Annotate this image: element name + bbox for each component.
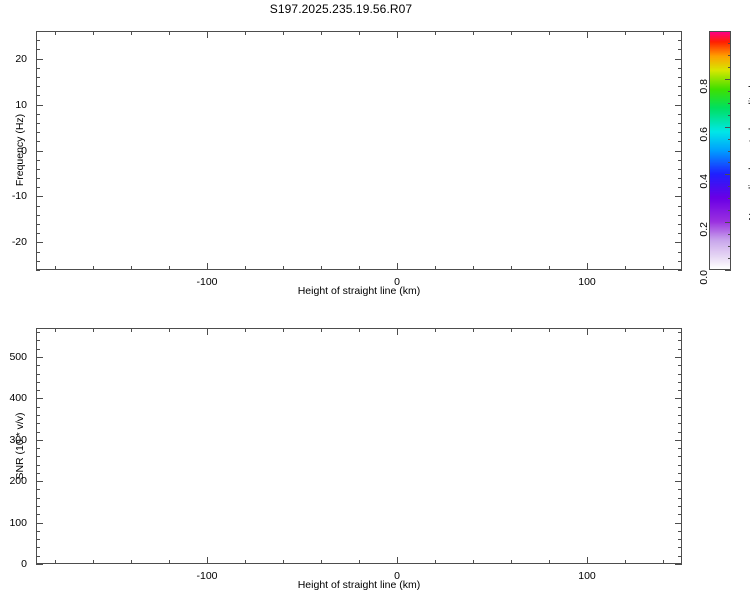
axis-tick <box>36 432 40 433</box>
axis-tick-label: 100 <box>578 570 596 582</box>
axis-tick <box>359 266 360 270</box>
axis-tick <box>678 498 682 499</box>
axis-tick <box>678 270 682 271</box>
axis-tick <box>283 266 284 270</box>
colorbar-tick <box>728 55 731 56</box>
axis-tick <box>678 187 682 188</box>
axis-tick <box>663 31 664 35</box>
axis-tick <box>511 560 512 564</box>
axis-tick <box>359 328 360 332</box>
axis-tick <box>625 31 626 35</box>
axis-tick <box>625 560 626 564</box>
axis-tick <box>169 266 170 270</box>
axis-tick <box>663 266 664 270</box>
axis-tick-label: 500 <box>9 351 27 363</box>
axis-tick <box>473 31 474 35</box>
axis-tick <box>36 398 43 399</box>
colorbar-tick <box>725 270 731 271</box>
axis-tick <box>36 523 43 524</box>
axis-tick <box>36 95 40 96</box>
figure-root: S197.2025.235.19.56.R07 -1000100-20-1001… <box>0 0 750 600</box>
axis-tick <box>678 132 682 133</box>
axis-tick-label: 100 <box>9 517 27 529</box>
axis-tick <box>36 374 40 375</box>
axis-tick <box>678 448 682 449</box>
axis-tick <box>36 498 40 499</box>
axis-tick <box>36 215 40 216</box>
colorbar-tick <box>728 67 731 68</box>
axis-tick <box>36 489 40 490</box>
axis-tick <box>36 531 40 532</box>
axis-tick <box>678 141 682 142</box>
snr-y-axis-label: SNR (10 * v/v) <box>14 412 26 479</box>
axis-tick <box>93 31 94 35</box>
axis-tick <box>36 86 40 87</box>
axis-tick <box>169 328 170 332</box>
axis-tick <box>36 151 43 152</box>
axis-tick <box>678 365 682 366</box>
colorbar-tick <box>728 103 731 104</box>
colorbar-tick <box>725 127 731 128</box>
axis-tick <box>678 531 682 532</box>
axis-tick <box>678 539 682 540</box>
axis-tick <box>36 349 40 350</box>
axis-tick <box>207 263 208 270</box>
axis-tick <box>675 59 682 60</box>
axis-tick-label: -20 <box>12 236 27 248</box>
axis-tick <box>169 31 170 35</box>
axis-tick-label: 10 <box>15 99 27 111</box>
axis-tick <box>678 390 682 391</box>
colorbar-tick <box>728 43 731 44</box>
axis-tick <box>678 489 682 490</box>
axis-tick <box>36 473 40 474</box>
axis-tick <box>397 328 398 335</box>
axis-tick <box>36 105 43 106</box>
axis-tick <box>93 266 94 270</box>
colorbar-tick-label: 0.0 <box>698 270 710 285</box>
axis-tick <box>321 31 322 35</box>
axis-tick <box>36 59 43 60</box>
axis-tick <box>207 557 208 564</box>
axis-tick <box>36 160 40 161</box>
spectrogram-x-axis-label: Height of straight line (km) <box>298 285 421 297</box>
axis-tick <box>359 31 360 35</box>
axis-tick <box>678 465 682 466</box>
axis-tick <box>663 328 664 332</box>
axis-tick <box>36 206 40 207</box>
axis-tick <box>93 560 94 564</box>
axis-tick-label: 400 <box>9 392 27 404</box>
colorbar-tick <box>728 198 731 199</box>
axis-tick <box>435 31 436 35</box>
axis-tick <box>55 31 56 35</box>
axis-tick <box>36 382 40 383</box>
axis-tick <box>321 328 322 332</box>
axis-tick <box>678 68 682 69</box>
axis-tick <box>473 328 474 332</box>
colorbar-tick <box>728 234 731 235</box>
axis-tick <box>678 40 682 41</box>
axis-tick <box>678 340 682 341</box>
colorbar-tick <box>728 186 731 187</box>
axis-tick <box>36 178 40 179</box>
axis-tick <box>587 328 588 335</box>
axis-tick <box>36 68 40 69</box>
axis-tick <box>36 390 40 391</box>
axis-tick <box>36 224 40 225</box>
axis-tick <box>36 481 43 482</box>
axis-tick <box>36 123 40 124</box>
axis-tick <box>587 263 588 270</box>
axis-tick <box>36 456 40 457</box>
axis-tick <box>36 564 43 565</box>
axis-tick-label: -100 <box>196 276 217 288</box>
axis-tick <box>549 266 550 270</box>
colorbar-tick-label: 0.2 <box>698 222 710 237</box>
axis-tick <box>435 266 436 270</box>
colorbar-tick <box>725 174 731 175</box>
axis-tick <box>245 328 246 332</box>
axis-tick <box>36 506 40 507</box>
axis-tick <box>678 556 682 557</box>
axis-tick <box>678 432 682 433</box>
axis-tick <box>55 266 56 270</box>
axis-tick <box>36 252 40 253</box>
axis-tick <box>675 242 682 243</box>
colorbar-tick <box>728 91 731 92</box>
axis-tick <box>36 539 40 540</box>
snr-frame <box>36 328 682 564</box>
axis-tick-label: 100 <box>578 276 596 288</box>
axis-tick <box>678 506 682 507</box>
axis-tick <box>207 328 208 335</box>
colorbar-tick <box>728 139 731 140</box>
colorbar-tick <box>728 31 731 32</box>
axis-tick <box>678 77 682 78</box>
axis-tick <box>587 557 588 564</box>
colorbar-tick-label: 0.6 <box>698 127 710 142</box>
axis-tick <box>678 95 682 96</box>
colorbar-tick <box>728 115 731 116</box>
axis-tick <box>678 415 682 416</box>
axis-tick <box>678 206 682 207</box>
axis-tick <box>397 557 398 564</box>
axis-tick <box>678 407 682 408</box>
axis-tick <box>36 514 40 515</box>
axis-tick <box>93 328 94 332</box>
colorbar-tick <box>728 210 731 211</box>
axis-tick <box>678 473 682 474</box>
axis-tick <box>473 560 474 564</box>
axis-tick <box>245 266 246 270</box>
axis-tick <box>678 123 682 124</box>
axis-tick <box>675 564 682 565</box>
axis-tick <box>36 132 40 133</box>
axis-tick <box>36 49 40 50</box>
axis-tick <box>678 160 682 161</box>
axis-tick <box>678 332 682 333</box>
axis-tick <box>36 187 40 188</box>
axis-tick <box>675 196 682 197</box>
colorbar-tick <box>725 222 731 223</box>
axis-tick <box>678 349 682 350</box>
axis-tick <box>36 31 40 32</box>
axis-tick <box>678 514 682 515</box>
axis-tick <box>678 169 682 170</box>
axis-tick <box>36 448 40 449</box>
axis-tick <box>131 266 132 270</box>
axis-tick <box>36 465 40 466</box>
axis-tick <box>36 196 43 197</box>
axis-tick <box>435 328 436 332</box>
axis-tick <box>36 547 40 548</box>
axis-tick <box>36 77 40 78</box>
axis-tick <box>675 481 682 482</box>
axis-tick <box>207 31 208 38</box>
axis-tick <box>169 560 170 564</box>
axis-tick <box>511 31 512 35</box>
axis-tick <box>435 560 436 564</box>
axis-tick <box>321 560 322 564</box>
spectrogram-frame <box>36 31 682 270</box>
colorbar-tick-label: 0.8 <box>698 79 710 94</box>
axis-tick-label: -10 <box>12 190 27 202</box>
axis-tick <box>36 357 43 358</box>
axis-tick <box>359 560 360 564</box>
axis-tick <box>678 224 682 225</box>
figure-title: S197.2025.235.19.56.R07 <box>0 2 682 16</box>
axis-tick <box>131 560 132 564</box>
axis-tick <box>675 105 682 106</box>
axis-tick <box>675 357 682 358</box>
axis-tick <box>678 178 682 179</box>
axis-tick <box>549 328 550 332</box>
axis-tick <box>36 40 40 41</box>
axis-tick-label: 0 <box>21 558 27 570</box>
axis-tick <box>549 560 550 564</box>
axis-tick <box>36 340 40 341</box>
axis-tick <box>625 328 626 332</box>
axis-tick <box>675 523 682 524</box>
axis-tick <box>397 31 398 38</box>
axis-tick <box>397 263 398 270</box>
axis-tick <box>678 233 682 234</box>
axis-tick <box>675 151 682 152</box>
axis-tick <box>663 560 664 564</box>
axis-tick <box>678 374 682 375</box>
axis-tick-label: -100 <box>196 570 217 582</box>
axis-tick <box>55 328 56 332</box>
axis-tick <box>131 328 132 332</box>
colorbar-tick <box>728 151 731 152</box>
axis-tick <box>511 266 512 270</box>
axis-tick <box>473 266 474 270</box>
axis-tick <box>678 382 682 383</box>
colorbar-tick <box>728 258 731 259</box>
axis-tick <box>678 547 682 548</box>
axis-tick <box>678 86 682 87</box>
axis-tick <box>678 114 682 115</box>
axis-tick <box>245 31 246 35</box>
snr-x-axis-label: Height of straight line (km) <box>298 579 421 591</box>
axis-tick <box>321 266 322 270</box>
axis-tick <box>678 456 682 457</box>
axis-tick <box>36 556 40 557</box>
axis-tick <box>36 440 43 441</box>
axis-tick <box>36 242 43 243</box>
axis-tick <box>36 141 40 142</box>
axis-tick <box>678 423 682 424</box>
axis-tick <box>36 169 40 170</box>
axis-tick-label: 20 <box>15 53 27 65</box>
axis-tick <box>678 252 682 253</box>
colorbar-tick <box>725 79 731 80</box>
axis-tick <box>36 261 40 262</box>
colorbar-tick <box>728 162 731 163</box>
axis-tick <box>675 440 682 441</box>
axis-tick <box>55 560 56 564</box>
axis-tick <box>36 365 40 366</box>
colorbar-tick <box>728 246 731 247</box>
axis-tick <box>675 398 682 399</box>
axis-tick <box>283 31 284 35</box>
axis-tick <box>625 266 626 270</box>
colorbar-tick-label: 0.4 <box>698 174 710 189</box>
axis-tick <box>587 31 588 38</box>
axis-tick <box>678 31 682 32</box>
axis-tick <box>131 31 132 35</box>
spectrogram-y-axis-label: Frequency (Hz) <box>14 114 26 186</box>
axis-tick <box>36 332 40 333</box>
axis-tick <box>36 423 40 424</box>
axis-tick <box>283 560 284 564</box>
axis-tick <box>245 560 246 564</box>
axis-tick <box>678 215 682 216</box>
axis-tick <box>36 415 40 416</box>
axis-tick <box>36 407 40 408</box>
axis-tick <box>549 31 550 35</box>
axis-tick <box>678 49 682 50</box>
axis-tick <box>678 261 682 262</box>
axis-tick <box>283 328 284 332</box>
axis-tick <box>36 233 40 234</box>
axis-tick <box>511 328 512 332</box>
axis-tick <box>36 270 40 271</box>
axis-tick <box>36 114 40 115</box>
